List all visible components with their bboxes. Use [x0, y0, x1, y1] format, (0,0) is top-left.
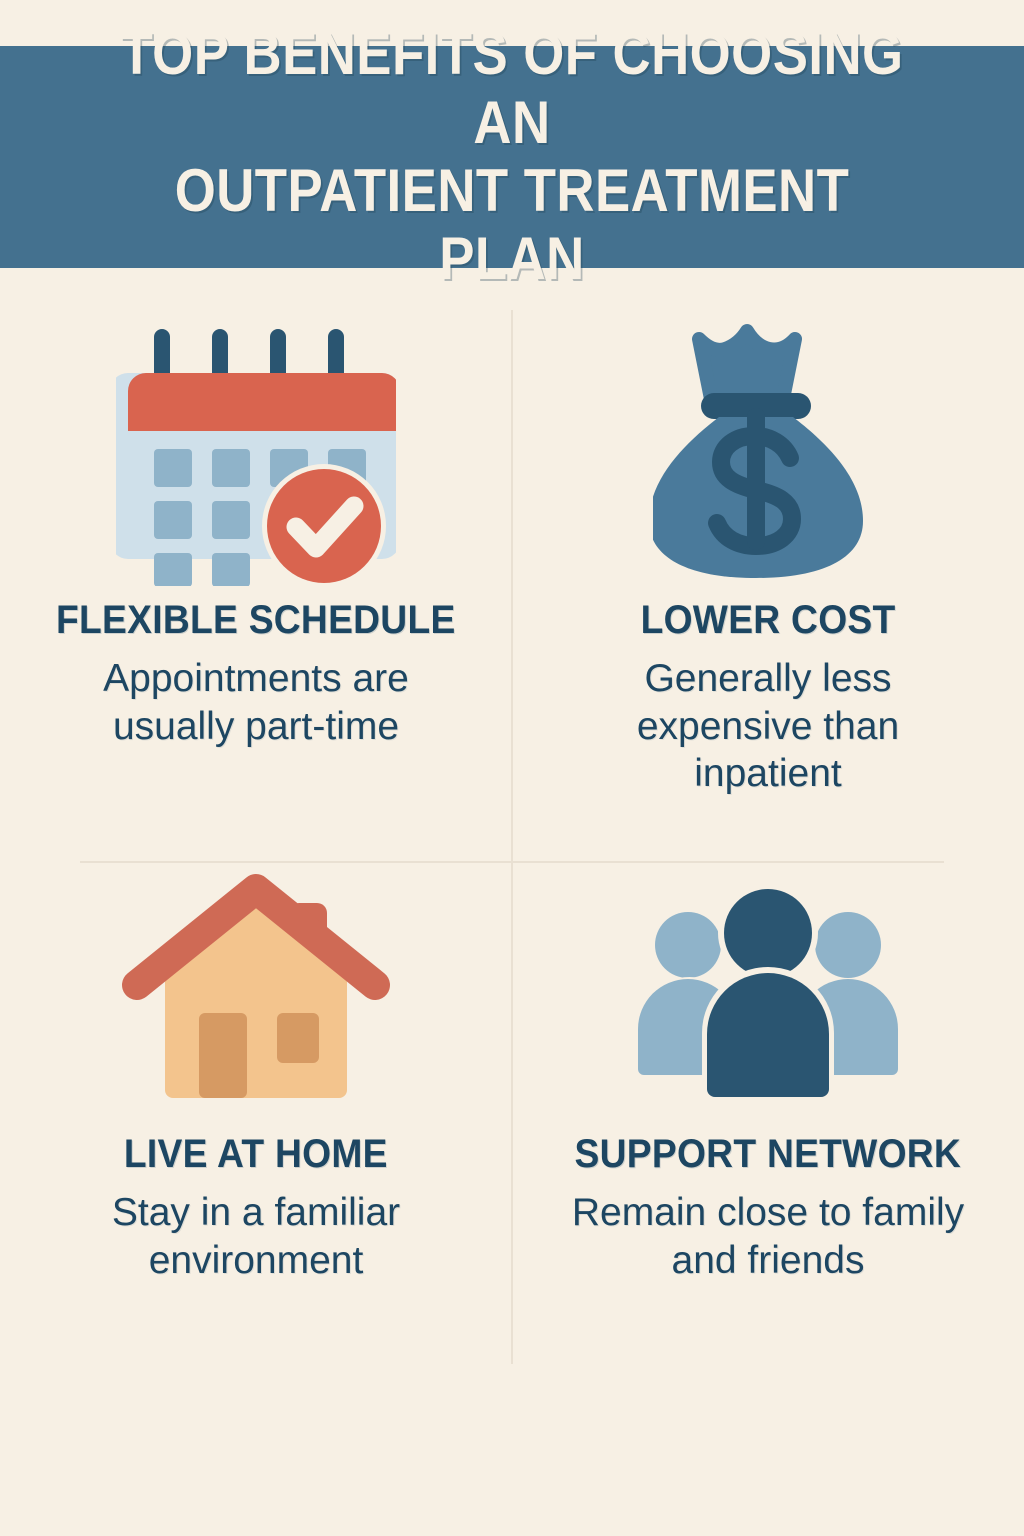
page-title: TOP BENEFITS OF CHOOSING AN OUTPATIENT T… [97, 20, 928, 294]
benefit-card-support-network: SUPPORT NETWORK Remain close to family a… [512, 842, 1024, 1376]
benefit-description: Remain close to family and friends [568, 1189, 968, 1284]
money-bag-icon [653, 318, 883, 588]
infographic-page: TOP BENEFITS OF CHOOSING AN OUTPATIENT T… [0, 0, 1024, 1536]
people-group-icon [618, 852, 918, 1122]
header-band: TOP BENEFITS OF CHOOSING AN OUTPATIENT T… [0, 46, 1024, 268]
benefit-description: Appointments are usually part-time [56, 655, 456, 750]
benefit-title: SUPPORT NETWORK [575, 1132, 962, 1177]
benefit-title: LOWER COST [641, 598, 896, 643]
house-icon [121, 852, 391, 1122]
calendar-check-icon [116, 318, 396, 588]
benefit-card-flexible-schedule: FLEXIBLE SCHEDULE Appointments are usual… [0, 308, 512, 842]
benefit-title: LIVE AT HOME [124, 1132, 388, 1177]
benefit-description: Stay in a familiar environment [56, 1189, 456, 1284]
benefit-title: FLEXIBLE SCHEDULE [56, 598, 456, 643]
benefits-grid: FLEXIBLE SCHEDULE Appointments are usual… [0, 268, 1024, 1536]
benefit-description: Generally less expensive than inpatient [568, 655, 968, 798]
benefit-card-live-at-home: LIVE AT HOME Stay in a familiar environm… [0, 842, 512, 1376]
benefit-card-lower-cost: LOWER COST Generally less expensive than… [512, 308, 1024, 842]
